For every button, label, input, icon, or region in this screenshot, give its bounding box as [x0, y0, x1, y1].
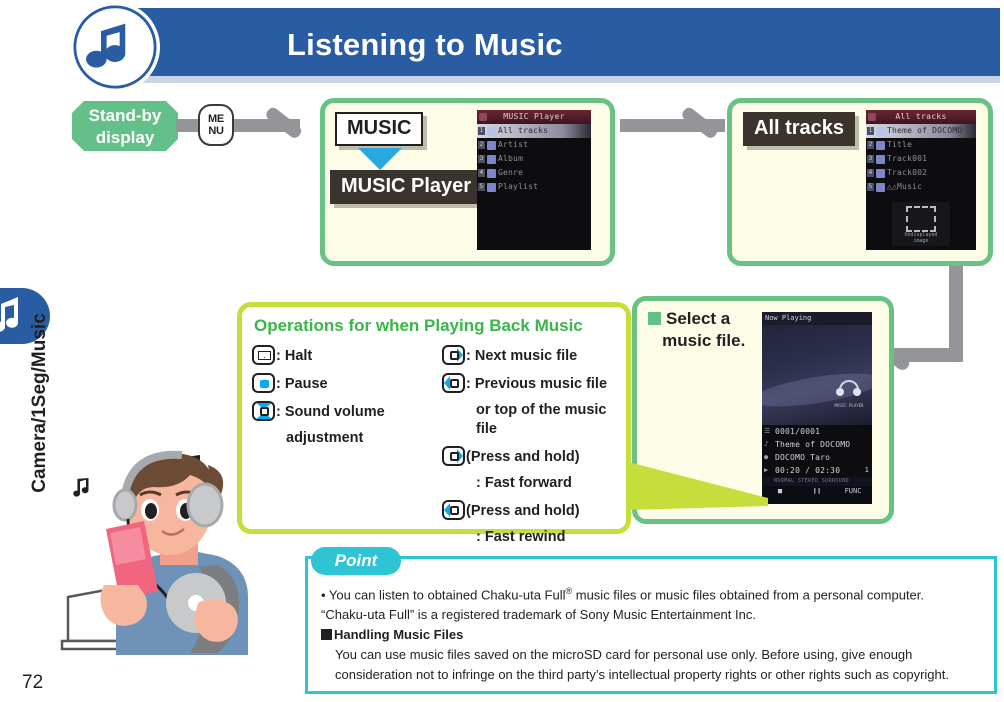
music-note-icon: [70, 2, 160, 92]
phone-screen-music-menu: MUSIC Player 1 All tracks 2 Artist 3 Alb…: [477, 110, 591, 250]
row-file-icon: [876, 183, 885, 192]
menu-key-icon: MENU: [198, 104, 234, 146]
row-label: All tracks: [498, 126, 548, 135]
screen-row: 3 Track001: [866, 152, 976, 166]
point-line-4: consideration not to infringe on the thi…: [321, 665, 987, 685]
down-triangle-icon: [358, 148, 402, 170]
logo-caption: MUSIC PLAYER: [832, 403, 866, 409]
flow-connector-vertical: [949, 262, 963, 362]
row-label: Track002: [887, 168, 927, 177]
operations-right-column: : Next music file : Previous music file …: [442, 345, 632, 547]
screen-title-icon: [479, 113, 487, 121]
ops-item-fast-forward-cont: : Fast forward: [442, 474, 632, 493]
chip-music-player: MUSIC Player: [330, 170, 482, 204]
center-key-icon: [252, 373, 275, 393]
screen-row: 4 Genre: [477, 166, 591, 180]
row-folder-icon: [487, 169, 496, 178]
headphone-icon: [836, 377, 862, 399]
np-time: ▶ 00:20 / 02:30 1: [762, 464, 872, 477]
up-down-key-icon: [252, 401, 275, 421]
screen-title-text: MUSIC Player: [503, 112, 564, 121]
np-artist-text: DOCOMO Taro: [775, 453, 830, 462]
page-header-bar: Listening to Music: [112, 8, 1000, 76]
play-icon: ▶: [764, 466, 768, 475]
select-music-file-label: Select a music file.: [648, 308, 753, 352]
page-title: Listening to Music: [287, 27, 987, 63]
mail-key-icon: [252, 345, 275, 365]
ops-item-label: (Press and hold): [466, 446, 580, 466]
softkey-stop-icon[interactable]: ■: [764, 487, 796, 495]
screen-title: All tracks: [866, 110, 976, 124]
left-key-icon: [442, 373, 465, 393]
row-label: △△Music: [887, 182, 922, 191]
black-square-bullet-icon: [321, 629, 332, 640]
right-key-icon: [442, 446, 465, 466]
point-line-1: • You can listen to obtained Chaku-uta F…: [321, 581, 987, 605]
standby-display-badge: Stand-bydisplay: [72, 101, 178, 151]
softkey-bar: ■ ❙❙ FUNC List ▾ 3GW: [762, 486, 872, 504]
green-square-bullet-icon: [648, 312, 661, 325]
point-tab-label: Point: [311, 547, 401, 575]
screen-row: 1 All tracks: [477, 124, 591, 138]
point-body: • You can listen to obtained Chaku-uta F…: [321, 581, 987, 685]
row-folder-icon: [487, 155, 496, 164]
ops-item-fast-forward: (Press and hold): [442, 446, 632, 468]
note-icon: ♪: [764, 440, 768, 449]
ops-item-halt: : Halt: [252, 345, 437, 367]
screen-row: 2 Title: [866, 138, 976, 152]
row-number: 4: [867, 169, 874, 177]
screen-row: 3 Album: [477, 152, 591, 166]
phone-screen-now-playing: Now Playing MUSIC PLAYER ☰ 0001/0001 ♪ T…: [762, 312, 872, 504]
operations-title: Operations for when Playing Back Music: [254, 316, 583, 336]
row-number: 5: [867, 183, 874, 191]
screen-row: 5 Playlist: [477, 180, 591, 194]
left-key-icon: [442, 500, 465, 520]
point-line-2: “Chaku-uta Full” is a registered tradema…: [321, 605, 987, 625]
row-label: Track001: [887, 154, 927, 163]
ops-item-previous-cont1: or top of the music: [442, 401, 632, 420]
row-label: Album: [498, 154, 523, 163]
page-number: 72: [22, 672, 43, 694]
np-volume: 1: [865, 464, 869, 477]
row-label: Artist: [498, 140, 528, 149]
ops-item-label: : Previous music file: [466, 373, 607, 393]
screen-row: 1 Theme of DOCOMO: [866, 124, 976, 138]
music-note-icon: [0, 293, 26, 337]
row-number: 3: [478, 155, 485, 163]
screen-row: 5 △△Music: [866, 180, 976, 194]
row-label: Genre: [498, 168, 523, 177]
row-number: 3: [867, 155, 874, 163]
row-number: 2: [478, 141, 485, 149]
chip-all-tracks: All tracks: [743, 112, 855, 146]
np-track-title-text: Theme of DOCOMO: [775, 440, 850, 449]
point-heading: Handling Music Files: [321, 625, 987, 645]
ops-item-label: : Halt: [276, 345, 312, 365]
point-box: • You can listen to obtained Chaku-uta F…: [305, 556, 997, 694]
ops-item-volume: : Sound volume: [252, 401, 437, 423]
screen-row: 2 Artist: [477, 138, 591, 152]
row-folder-icon: [487, 183, 496, 192]
undisplayed-image-placeholder: Undisplayedimage: [892, 202, 950, 246]
np-artist: ● DOCOMO Taro: [762, 451, 872, 464]
ops-item-label: (Press and hold): [466, 500, 580, 520]
ops-item-previous: : Previous music file: [442, 373, 632, 395]
music-player-logo: MUSIC PLAYER: [832, 377, 866, 409]
row-label: Playlist: [498, 182, 538, 191]
row-label: Title: [887, 140, 912, 149]
sidebar-section-label: Camera/1Seg/Music: [29, 293, 51, 513]
row-file-icon: [876, 155, 885, 164]
ops-item-previous-cont2: file: [442, 420, 632, 439]
screen-title-text: All tracks: [895, 112, 946, 121]
row-number: 5: [478, 183, 485, 191]
ops-item-next: : Next music file: [442, 345, 632, 367]
ops-item-fast-rewind: (Press and hold): [442, 500, 632, 522]
ops-item-fast-rewind-cont: : Fast rewind: [442, 528, 632, 547]
ops-item-pause: : Pause: [252, 373, 437, 395]
now-playing-status: Now Playing: [762, 312, 872, 325]
point-line-1a: • You can listen to obtained Chaku-uta F…: [321, 587, 566, 602]
chip-music: MUSIC: [335, 112, 423, 146]
placeholder-caption: Undisplayedimage: [892, 232, 950, 244]
music-note-glyph: [73, 5, 157, 89]
person-icon: ●: [764, 453, 768, 462]
ops-item-label: : Next music file: [466, 345, 577, 365]
row-file-icon: [876, 169, 885, 178]
ops-item-label: : Sound volume: [276, 401, 385, 421]
operations-left-column: : Halt : Pause : Sound volume adjustment: [252, 345, 437, 448]
np-track-number: ☰ 0001/0001: [762, 425, 872, 438]
list-icon: ☰: [764, 427, 770, 436]
softkey-pause-icon[interactable]: ❙❙: [800, 487, 834, 495]
row-number: 1: [478, 127, 485, 135]
point-line-3: You can use music files saved on the mic…: [321, 645, 987, 665]
np-track-number-text: 0001/0001: [775, 427, 820, 436]
panel-operations: Operations for when Playing Back Music :…: [237, 302, 631, 534]
row-number: 4: [478, 169, 485, 177]
select-music-file-text: Select a music file.: [648, 309, 745, 350]
phone-screen-all-tracks: All tracks 1 Theme of DOCOMO 2 Title 3 T…: [866, 110, 976, 250]
row-number: 2: [867, 141, 874, 149]
np-time-text: 00:20 / 02:30: [775, 466, 840, 475]
point-heading-text: Handling Music Files: [334, 627, 463, 642]
point-line-1b: music files or music files obtained from…: [572, 587, 924, 602]
np-track-title: ♪ Theme of DOCOMO: [762, 438, 872, 451]
row-label: Theme of DOCOMO: [887, 126, 962, 135]
screen-row: 4 Track002: [866, 166, 976, 180]
softkey-func[interactable]: FUNC: [836, 487, 870, 495]
row-folder-icon: [487, 141, 496, 150]
ops-item-label: : Pause: [276, 373, 328, 393]
screen-title: MUSIC Player: [477, 110, 591, 124]
row-file-icon: [876, 141, 885, 150]
placeholder-frame-icon: [906, 206, 936, 232]
right-key-icon: [442, 345, 465, 365]
row-number: 1: [867, 127, 874, 135]
album-art-area: MUSIC PLAYER: [762, 325, 872, 425]
screen-title-icon: [868, 113, 876, 121]
ops-item-volume-cont: adjustment: [252, 429, 437, 448]
np-equalizer-labels: NORMAL STEREO SURROUND WMA/LTD: [762, 477, 872, 486]
row-file-icon: [876, 127, 885, 136]
row-folder-icon: [487, 127, 496, 136]
